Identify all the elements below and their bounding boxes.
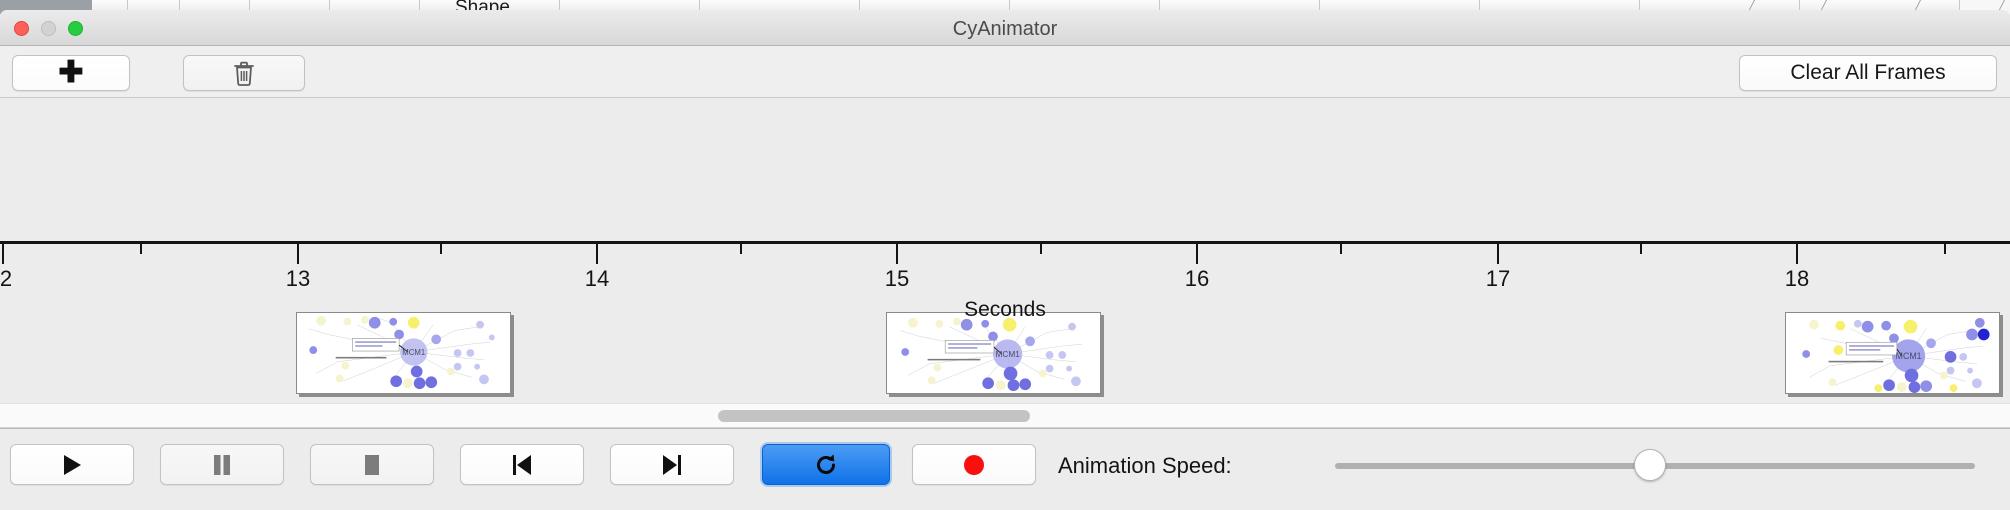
network-graph: MCM1 xyxy=(1786,313,1999,393)
stop-icon xyxy=(361,453,383,477)
loop-icon xyxy=(813,452,839,478)
svg-text:MCM1: MCM1 xyxy=(995,349,1020,359)
delete-frame-button[interactable] xyxy=(183,55,305,91)
frame-thumbnail[interactable]: MCM1 xyxy=(886,312,1101,394)
axis-tick-label: 2 xyxy=(0,266,12,292)
axis-title: Seconds xyxy=(0,298,2010,322)
pause-icon xyxy=(211,453,233,477)
add-frame-button[interactable]: ✚ xyxy=(12,55,130,91)
clear-all-frames-button[interactable]: Clear All Frames xyxy=(1739,55,1997,91)
axis-tick-minor xyxy=(440,244,442,254)
axis-tick-minor xyxy=(140,244,142,254)
previous-frame-button[interactable] xyxy=(460,444,584,485)
axis-tick-major xyxy=(1497,244,1499,264)
playback-controls: Animation Speed: xyxy=(0,428,2010,508)
axis-tick-label: 18 xyxy=(1785,266,1809,292)
axis-tick-major xyxy=(2,244,4,264)
record-icon xyxy=(962,453,986,477)
axis-tick-minor xyxy=(1040,244,1042,254)
pause-button[interactable] xyxy=(160,444,284,485)
network-graph: MCM1 xyxy=(887,313,1100,393)
axis-tick-label: 17 xyxy=(1486,266,1510,292)
frame-thumbnail[interactable]: MCM1 xyxy=(1785,312,2000,394)
axis-tick-label: 14 xyxy=(585,266,609,292)
axis-tick-major xyxy=(896,244,898,264)
animation-speed-label: Animation Speed: xyxy=(1058,453,1232,479)
axis-tick-major xyxy=(297,244,299,264)
frame-thumbnail[interactable]: MCM1 xyxy=(296,312,511,394)
toolbar: ✚ Clear All Frames xyxy=(0,46,2010,98)
axis-tick-major xyxy=(1196,244,1198,264)
loop-button[interactable] xyxy=(762,444,890,485)
stop-button[interactable] xyxy=(310,444,434,485)
axis-tick-label: 16 xyxy=(1185,266,1209,292)
window-title: CyAnimator xyxy=(0,18,2010,41)
skip-forward-icon xyxy=(660,453,684,477)
network-graph: MCM1 xyxy=(297,313,510,393)
svg-text:MCM1: MCM1 xyxy=(1896,351,1922,361)
animation-speed-slider[interactable] xyxy=(1335,463,1975,469)
timeline-axis xyxy=(0,241,2010,244)
axis-tick-major xyxy=(596,244,598,264)
titlebar: CyAnimator xyxy=(0,10,2010,46)
slider-thumb[interactable] xyxy=(1634,449,1666,481)
plus-icon: ✚ xyxy=(58,58,83,88)
axis-tick-minor xyxy=(1340,244,1342,254)
svg-text:MCM1: MCM1 xyxy=(402,348,425,357)
skip-back-icon xyxy=(510,453,534,477)
axis-tick-label: 13 xyxy=(286,266,310,292)
record-button[interactable] xyxy=(912,444,1036,485)
clear-all-frames-label: Clear All Frames xyxy=(1790,61,1945,85)
axis-tick-minor xyxy=(1944,244,1946,254)
axis-tick-label: 15 xyxy=(885,266,909,292)
axis-tick-minor xyxy=(1640,244,1642,254)
cyanimator-window: CyAnimator ✚ Clear All Frames xyxy=(0,10,2010,510)
axis-tick-minor xyxy=(740,244,742,254)
axis-tick-major xyxy=(1796,244,1798,264)
trash-icon xyxy=(233,61,255,86)
timeline-panel[interactable]: MCM1 xyxy=(0,98,2010,428)
horizontal-scrollbar[interactable] xyxy=(0,403,2010,427)
play-button[interactable] xyxy=(10,444,134,485)
scrollbar-thumb[interactable] xyxy=(718,410,1030,422)
play-icon xyxy=(61,453,83,477)
next-frame-button[interactable] xyxy=(610,444,734,485)
